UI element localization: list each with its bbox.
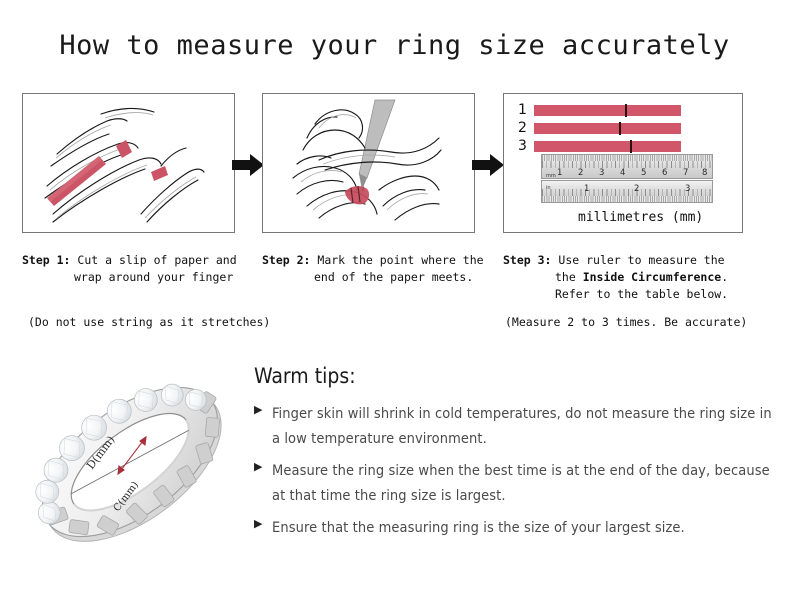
bullet-triangle-icon-3: ▶ — [254, 516, 272, 529]
strip-mark-1 — [625, 104, 627, 117]
step-3-caption: Step 3: Use ruler to measure the the Ins… — [503, 252, 765, 303]
step-3-line2: the Inside Circumference. — [503, 269, 765, 286]
ruler-ticks-top — [542, 161, 712, 168]
warm-tips-section: Warm tips: ▶ Finger skin will shrink in … — [254, 364, 774, 548]
step-2-line2: end of the paper meets. — [262, 269, 512, 286]
paper-strip-bar-1 — [534, 105, 681, 116]
tip-text-3: Ensure that the measuring ring is the si… — [272, 516, 685, 541]
millimetres-unit-caption: millimetres (mm) — [578, 210, 703, 225]
arrow-right-icon-2 — [472, 152, 504, 178]
ruler-imperial-scale: in 1 2 3 — [541, 180, 713, 203]
ruler-top-num-2: 2 — [578, 168, 583, 178]
warm-tips-heading: Warm tips: — [254, 364, 774, 388]
step-3-line1: Use ruler to measure the — [558, 253, 724, 267]
strip-number-3: 3 — [518, 138, 534, 154]
step-1-illustration-panel — [22, 93, 235, 233]
step-2-caption: Step 2: Mark the point where the end of … — [262, 252, 512, 286]
strip-number-1: 1 — [518, 102, 534, 118]
ruler-top-num-3: 3 — [599, 168, 604, 178]
ruler-top-num-8: 8 — [702, 168, 707, 178]
ruler-unit-in-label: in — [546, 185, 551, 191]
ruler-edge-hatching-bottom — [542, 196, 712, 202]
paper-strip-bar-3 — [534, 141, 681, 152]
page-title: How to measure your ring size accurately — [0, 30, 789, 61]
ring-size-guide-page: How to measure your ring size accurately — [0, 0, 789, 606]
measured-strip-row-1: 1 — [518, 102, 681, 118]
hand-with-paper-strip-icon — [23, 94, 233, 231]
strip-mark-2 — [619, 122, 621, 135]
step-1-note: (Do not use string as it stretches) — [28, 315, 270, 329]
ruler-unit-mm-label: mm — [546, 173, 556, 179]
step-3-note: (Measure 2 to 3 times. Be accurate) — [505, 315, 747, 329]
ruler-top-num-4: 4 — [620, 168, 625, 178]
ruler-bottom-num-1: 1 — [584, 184, 589, 194]
step-2-line1: Mark the point where the — [317, 253, 483, 267]
step-1-line2: wrap around your finger — [22, 269, 272, 286]
ruler-top-num-1: 1 — [557, 168, 562, 178]
hand-marking-paper-icon — [263, 94, 473, 231]
paper-ring-mark — [345, 186, 369, 204]
bullet-triangle-icon-2: ▶ — [254, 459, 272, 472]
ruler-bottom-num-2: 2 — [634, 184, 639, 194]
bullet-triangle-icon-1: ▶ — [254, 402, 272, 415]
strip-mark-3 — [630, 140, 632, 153]
step-3-line3: Refer to the table below. — [503, 286, 765, 303]
step-3-line2-emphasis: Inside Circumference — [583, 270, 721, 284]
tip-item-3: ▶ Ensure that the measuring ring is the … — [254, 516, 774, 541]
step-2-label: Step 2: — [262, 253, 310, 267]
tip-item-2: ▶ Measure the ring size when the best ti… — [254, 459, 774, 509]
ruler-metric-scale: mm 1 2 3 4 5 6 7 8 — [541, 154, 713, 179]
eternity-band-ring-icon: D(mm) C(mm) — [18, 352, 248, 577]
arrow-right-icon-1 — [232, 152, 264, 178]
tip-text-1: Finger skin will shrink in cold temperat… — [272, 402, 774, 452]
step-3-label: Step 3: — [503, 253, 551, 267]
paper-strip-bar-2 — [534, 123, 681, 134]
ruler-top-num-7: 7 — [683, 168, 688, 178]
ruler-graphic: mm 1 2 3 4 5 6 7 8 in 1 2 3 — [541, 154, 713, 203]
step-1-label: Step 1: — [22, 253, 70, 267]
measured-strip-row-3: 3 — [518, 138, 681, 154]
step-1-caption: Step 1: Cut a slip of paper and wrap aro… — [22, 252, 272, 286]
measured-strip-row-2: 2 — [518, 120, 681, 136]
tip-item-1: ▶ Finger skin will shrink in cold temper… — [254, 402, 774, 452]
ring-diagram: D(mm) C(mm) — [18, 352, 248, 577]
ruler-bottom-num-3: 3 — [685, 184, 690, 194]
step-2-illustration-panel — [262, 93, 475, 233]
step-1-line1: Cut a slip of paper and — [77, 253, 236, 267]
step-3-illustration-panel: 1 2 3 mm 1 2 3 4 5 6 7 8 — [503, 93, 743, 233]
strip-number-2: 2 — [518, 120, 534, 136]
ruler-top-num-5: 5 — [641, 168, 646, 178]
tip-text-2: Measure the ring size when the best time… — [272, 459, 774, 509]
ruler-top-num-6: 6 — [662, 168, 667, 178]
